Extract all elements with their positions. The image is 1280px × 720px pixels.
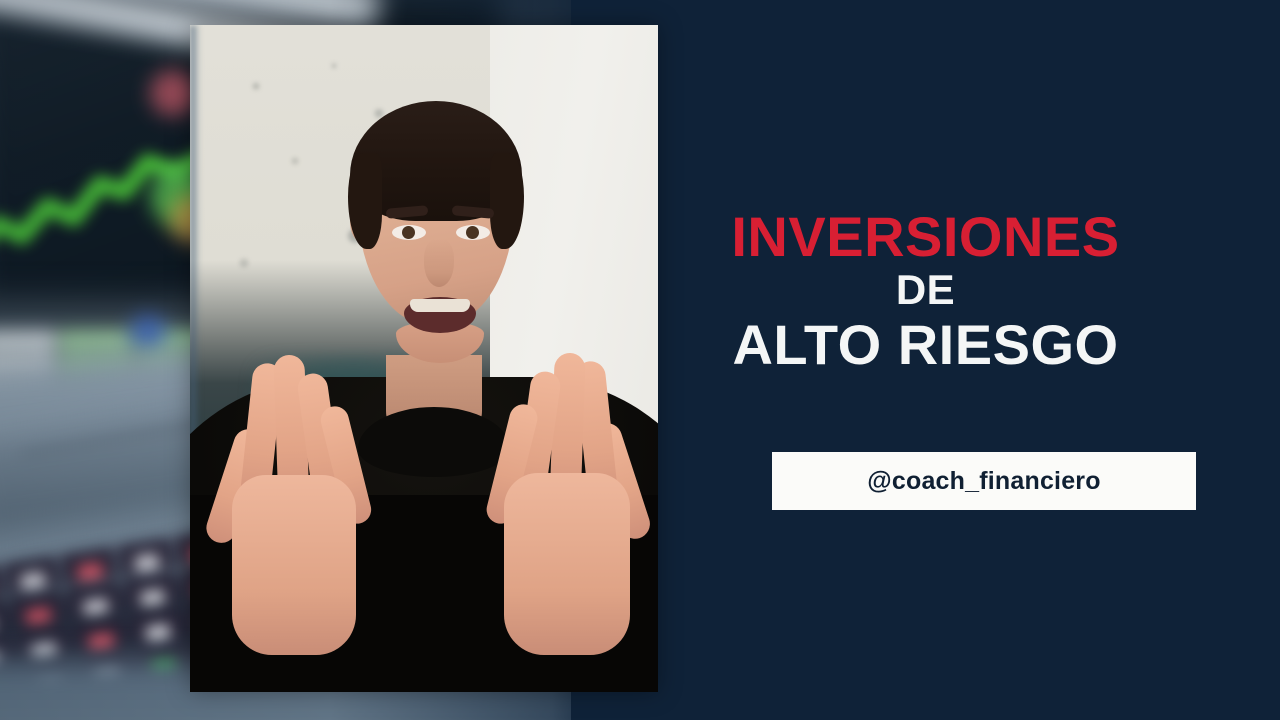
handle-badge[interactable]: @coach_financiero xyxy=(772,452,1196,510)
video-thumbnail-canvas: INVERSIONES DE ALTO RIESGO @coach_financ… xyxy=(0,0,1280,720)
hair-side-left xyxy=(348,153,382,249)
palm-left xyxy=(232,475,356,655)
headline-line-2: DE xyxy=(571,265,1280,315)
teeth xyxy=(410,299,470,312)
palm-right xyxy=(504,473,630,655)
iris-right xyxy=(466,226,479,239)
handle-text: @coach_financiero xyxy=(867,467,1100,496)
headline-line-1: INVERSIONES xyxy=(571,208,1280,265)
nose xyxy=(424,239,454,287)
iris-left xyxy=(402,226,415,239)
headline-block: INVERSIONES DE ALTO RIESGO xyxy=(571,208,1280,374)
headline-line-3: ALTO RIESGO xyxy=(571,315,1280,374)
